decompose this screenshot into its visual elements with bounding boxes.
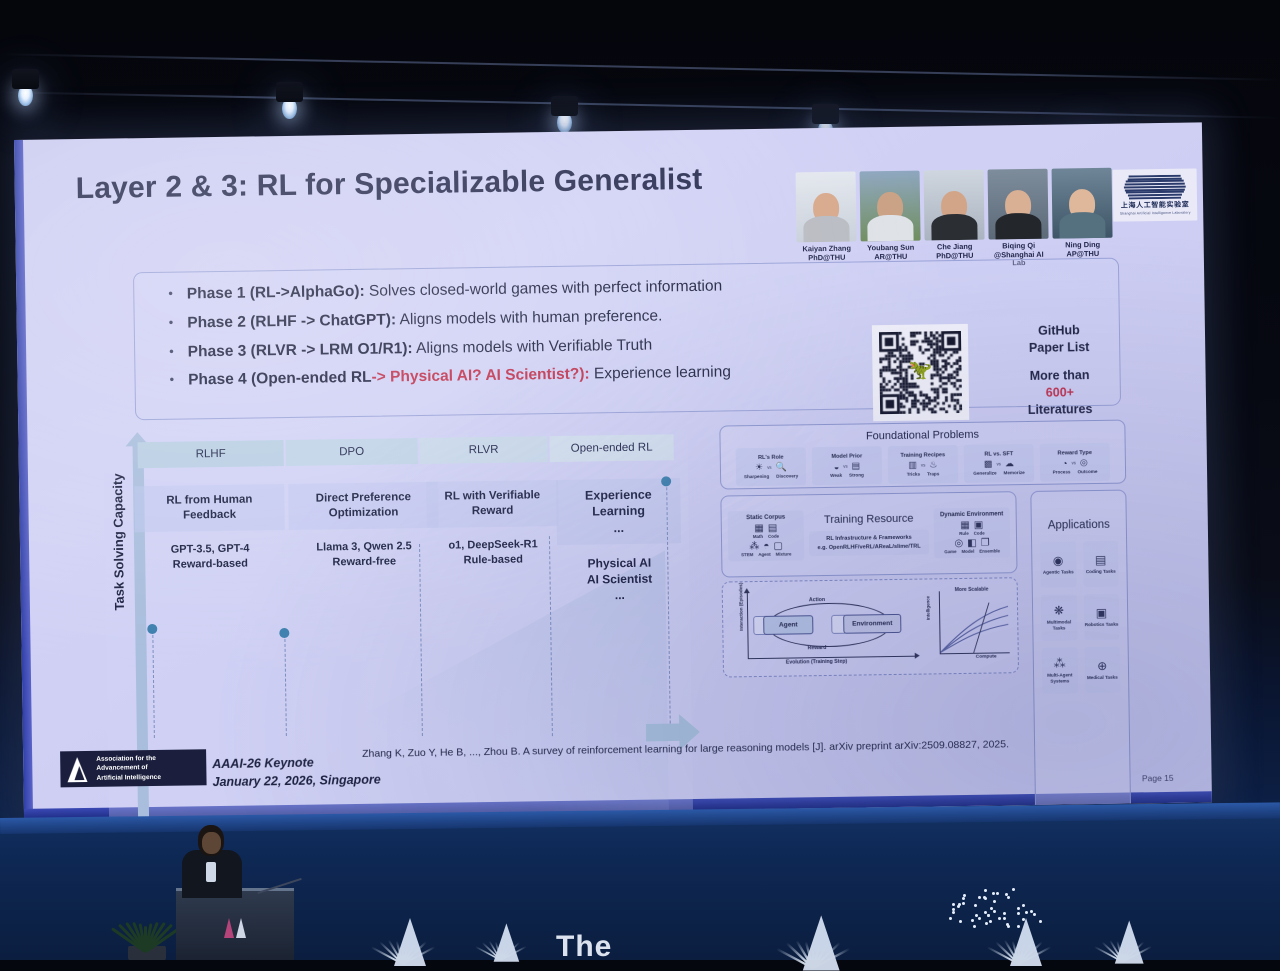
corpus-label: Code [768, 534, 779, 539]
author-affiliation: AR@THU [874, 251, 907, 260]
timeline-column-dpo: Direct Preference Optimization Llama 3, … [288, 482, 439, 571]
stage-area: The [0, 818, 1280, 960]
avatar [1052, 168, 1113, 239]
author-affiliation: PhD@THU [936, 251, 973, 261]
training-resource-center: Training Resource RL Infrastructure & Fr… [809, 513, 930, 557]
avatar [860, 171, 921, 242]
option-left: Sharpening [744, 474, 769, 479]
timeline-header-openended: Open-ended RL [549, 434, 673, 462]
backdrop-dot-spray [948, 868, 1038, 938]
application-label: Multimodal Tasks [1041, 620, 1077, 632]
application-label: Multi-Agent Systems [1042, 673, 1078, 685]
static-corpus-box: Static Corpus ▦▤ MathCode ⁂◓▢ STEMAgentM… [728, 510, 805, 561]
application-item: ◉Agentic Tasks [1040, 541, 1076, 588]
qr-line-3: More than [1004, 366, 1114, 385]
application-item: ❋Multimodal Tasks [1041, 594, 1077, 641]
option-right: Discovery [776, 473, 798, 478]
network-icon: ⁂ [1054, 657, 1066, 671]
layers-icon: ◒ [834, 461, 840, 471]
timeline-header-rlvr: RLVR [419, 436, 547, 464]
foundational-item: Training Recipes▥vs♨TricksTraps [888, 445, 959, 484]
backdrop-banner-text: The [556, 930, 612, 964]
timeline-connector [152, 630, 155, 738]
stem-icon: ⁂ [749, 541, 759, 552]
timeline-column-openended: Experience Learning ... Physical AI AI S… [556, 478, 682, 604]
author-card: Kaiyan ZhangPhD@THU [796, 172, 857, 272]
column-title: Direct Preference Optimization [288, 482, 439, 530]
author-photo-strip: Kaiyan ZhangPhD@THU Youbang SunAR@THU Ch… [796, 168, 1113, 272]
vs-label: vs [843, 464, 847, 469]
corpus-label: STEM [741, 552, 753, 557]
foundational-item: Reward Type◔vs◎ProcessOutcome [1040, 443, 1111, 482]
y-axis-label: Task Solving Capacity [110, 473, 127, 610]
dynamic-environment-box: Dynamic Environment ▦▣ RuleCode ◎◧❐ Game… [934, 507, 1011, 558]
timeline-node-dot [147, 624, 157, 634]
panel-title: Applications [1032, 519, 1126, 532]
application-label: Robotics Tasks [1085, 622, 1119, 628]
game-icon: ◎ [954, 538, 963, 549]
bullet-phase-1: • Phase 1 (RL->AlphaGo): Solves closed-w… [168, 272, 1100, 304]
option-left: Process [1053, 469, 1071, 474]
option-right: Strong [849, 472, 864, 477]
bullet-label: Phase 1 (RL->AlphaGo): [187, 283, 365, 303]
ensemble-icon: ❐ [981, 538, 990, 549]
foundational-item: RL vs. SFT▩vs☁GeneralizeMemorize [964, 444, 1035, 483]
loop-x-label: Evolution (Training Step) [786, 659, 847, 666]
bullet-dot-icon: • [168, 286, 173, 304]
mixture-icon: ▢ [773, 541, 783, 552]
avatar [988, 169, 1049, 240]
dinosaur-icon: 🦖 [909, 361, 933, 380]
qr-code-block[interactable]: 🦖 [872, 324, 969, 421]
column-title: RL from Human Feedback [134, 484, 285, 532]
corpus-label: Agent [758, 552, 771, 557]
timeline-header-rlhf: RLHF [137, 440, 283, 468]
env-label: Game [944, 549, 956, 554]
presentation-slide: Layer 2 & 3: RL for Specializable Genera… [23, 122, 1212, 808]
column-sub: o1, DeepSeek-R1 Rule-based [427, 537, 559, 569]
author-affiliation: PhD@THU [808, 252, 845, 262]
org-line-3: Artificial Intelligence [96, 773, 161, 784]
qr-caption: GitHub Paper List More than 600+ Literat… [1004, 322, 1115, 419]
shanghai-ai-lab-logo: 上海人工智能实验室 Shanghai Artificial Intelligen… [1113, 168, 1198, 221]
code-icon: ▣ [974, 520, 984, 531]
panel-title: Foundational Problems [720, 427, 1124, 445]
item-label: RL's Role [758, 455, 784, 461]
projection-screen: Layer 2 & 3: RL for Specializable Genera… [14, 122, 1212, 820]
item-label: Training Recipes [900, 452, 945, 459]
card-icon: ▥ [908, 460, 917, 471]
applications-grid: ◉Agentic Tasks▤Coding Tasks❋Multimodal T… [1032, 541, 1128, 694]
option-left: Weak [830, 473, 842, 478]
trap-icon: ♨ [929, 459, 937, 470]
column-sub: Physical AI AI Scientist ... [557, 554, 682, 604]
scaling-chart: Intelligence Compute More Scalable [929, 584, 1014, 669]
corpus-label: Math [753, 534, 763, 539]
timeline-header-dpo: DPO [285, 438, 417, 466]
scaling-curves [929, 584, 1014, 669]
cloud-icon: ☁ [1005, 458, 1014, 469]
application-item: ⁂Multi-Agent Systems [1042, 647, 1078, 694]
foundational-items-row: RL's Role☀vs🔍SharpeningDiscoveryModel Pr… [721, 443, 1126, 487]
aaai-logo: Association for the Advancement of Artif… [60, 749, 207, 787]
lightbulb-icon: ☀ [755, 462, 763, 473]
aaai-mark-icon [65, 755, 91, 783]
option-right: Traps [927, 471, 939, 476]
rule-icon: ▦ [960, 520, 970, 531]
backdrop-fountain-graphic [372, 914, 432, 966]
backdrop-fountain-graphic [778, 902, 847, 971]
stage-spotlight [18, 85, 33, 106]
application-item: ▤Coding Tasks [1083, 541, 1119, 588]
model-icon: ◧ [967, 538, 977, 549]
option-left: Generalize [973, 470, 996, 475]
timeline-node-dot [279, 628, 289, 638]
lab-name-en: Shanghai Artificial Intelligence Laborat… [1120, 211, 1191, 216]
robot-icon: ▣ [1096, 606, 1108, 620]
book-icon: ▤ [852, 460, 861, 471]
item-label: Reward Type [1058, 450, 1092, 457]
timeline-connector [284, 634, 287, 736]
vs-label: vs [996, 461, 1000, 466]
corpus-label: Mixture [776, 552, 792, 557]
podium-logo-icon [217, 917, 253, 939]
loop-y-label: Interaction (Episodes) [738, 583, 744, 631]
author-card: Ning DingAP@THU [1052, 168, 1113, 268]
backdrop-fountain-graphic [1095, 922, 1149, 964]
reward-label: Reward [808, 645, 827, 651]
bullet-dot-icon: • [169, 314, 174, 332]
avatar [796, 172, 857, 243]
box-title: Dynamic Environment [936, 511, 1008, 518]
author-card: Che JiangPhD@THU [924, 170, 985, 270]
timeline-node-dot [661, 476, 671, 486]
env-label: Code [974, 531, 985, 536]
author-card: Biqing Qi@Shanghai AI Lab [988, 169, 1049, 269]
stage-spotlight [282, 98, 297, 119]
author-card: Youbang SunAR@THU [860, 171, 921, 271]
action-label: Action [809, 597, 825, 603]
timeline-column-rlvr: RL with Verifiable Reward o1, DeepSeek-R… [426, 480, 559, 569]
foundational-item: RL's Role☀vs🔍SharpeningDiscovery [736, 447, 807, 486]
lab-name-cn: 上海人工智能实验室 [1121, 200, 1190, 211]
option-left: Tricks [907, 472, 920, 477]
bullet-text: Aligns models with Verifiable Truth [413, 336, 653, 357]
item-label: Model Prior [831, 453, 862, 459]
foundational-problems-panel: Foundational Problems RL's Role☀vs🔍Sharp… [719, 420, 1126, 490]
stage-spotlight [557, 112, 572, 133]
bullet-text: Aligns models with human preference. [396, 307, 662, 328]
literature-count: 600+ [1005, 383, 1115, 402]
applications-panel: Applications ◉Agentic Tasks▤Coding Tasks… [1030, 490, 1132, 820]
application-item: ▣Robotics Tasks [1083, 594, 1119, 641]
agent-loop-diagram: Interaction (Episodes) Evolution (Traini… [733, 586, 920, 673]
author-affiliation: AP@THU [1066, 249, 1099, 258]
page-number: Page 15 [1142, 773, 1174, 783]
vs-label: vs [767, 465, 771, 470]
keynote-date: January 22, 2026, Singapore [212, 771, 380, 792]
bullet-highlight: -> Physical AI? AI Scientist?): [371, 366, 589, 386]
bullet-label: Phase 4 (Open-ended RL [188, 369, 372, 389]
clock-icon: ◔ [1062, 458, 1068, 468]
medical-icon: ⊕ [1097, 659, 1107, 673]
column-title: RL with Verifiable Reward [426, 480, 559, 528]
podium [176, 888, 294, 960]
logo-stripes-icon [1124, 175, 1186, 200]
item-label: RL vs. SFT [984, 451, 1013, 457]
code-icon: ▤ [1095, 553, 1107, 567]
env-label: Model [962, 549, 975, 554]
bullet-text: Solves closed-world games with perfect i… [365, 278, 723, 300]
agent-node: Agent [763, 615, 813, 635]
stage-plant [108, 896, 186, 960]
org-line-1: Association for the [96, 754, 161, 765]
bullet-label: Phase 3 (RLVR -> LRM O1/R1): [188, 340, 413, 360]
keynote-info: AAAI-26 Keynote January 22, 2026, Singap… [212, 753, 381, 792]
bullet-dot-icon: • [169, 372, 174, 390]
bullet-dot-icon: • [169, 343, 174, 361]
agent-environment-panel: Interaction (Episodes) Evolution (Traini… [722, 577, 1019, 677]
environment-node: Environment [843, 614, 901, 634]
training-resource-panel: Static Corpus ▦▤ MathCode ⁂◓▢ STEMAgentM… [720, 491, 1017, 577]
qr-line-2: Paper List [1004, 339, 1114, 358]
application-label: Medical Tasks [1087, 675, 1118, 681]
vs-label: vs [1071, 460, 1075, 465]
application-label: Agentic Tasks [1043, 569, 1074, 575]
qr-code[interactable]: 🦖 [872, 324, 969, 421]
bullet-text: Experience learning [589, 364, 731, 383]
foundational-item: Model Prior◒vs▤WeakStrong [812, 446, 883, 485]
panel-title: Training Resource [809, 513, 929, 527]
vs-label: vs [921, 463, 925, 468]
target-icon: ◎ [1080, 457, 1088, 468]
lighting-truss-upper [0, 53, 1280, 81]
option-right: Memorize [1004, 470, 1025, 475]
infra-examples: e.g. OpenRLHF/veRL/AReaL/slime/TRL [812, 542, 926, 552]
column-title: Experience Learning ... [556, 478, 681, 545]
bullet-label: Phase 2 (RLHF -> ChatGPT): [187, 311, 396, 331]
timeline-column-rlhf: RL from Human Feedback GPT-3.5, GPT-4 Re… [134, 484, 285, 573]
multimodal-icon: ❋ [1054, 604, 1064, 618]
agent-icon: ◓ [763, 541, 769, 552]
backdrop-fountain-graphic [476, 929, 524, 962]
phases-bullet-card: • Phase 1 (RL->AlphaGo): Solves closed-w… [133, 258, 1121, 421]
code-icon: ▤ [768, 523, 778, 534]
loop-y-axis [747, 592, 749, 658]
application-label: Coding Tasks [1086, 569, 1116, 575]
avatar [924, 170, 985, 241]
box-title: Static Corpus [730, 514, 802, 521]
math-icon: ▦ [754, 523, 764, 534]
option-right: Outcome [1077, 469, 1097, 474]
column-sub: GPT-3.5, GPT-4 Reward-based [135, 541, 285, 573]
application-item: ⊕Medical Tasks [1084, 647, 1120, 694]
page-title: Layer 2 & 3: RL for Specializable Genera… [75, 163, 702, 206]
magnifier-icon: 🔍 [775, 462, 786, 473]
lighting-truss-lower [0, 91, 1280, 119]
grid-icon: ▩ [984, 459, 993, 470]
qr-line-4: Literatures [1005, 400, 1115, 419]
qr-line-1: GitHub [1004, 322, 1114, 341]
agent-icon: ◉ [1053, 554, 1064, 568]
env-label: Ensemble [979, 548, 1000, 553]
column-sub: Llama 3, Qwen 2.5 Reward-free [289, 539, 439, 571]
env-label: Rule [959, 531, 969, 536]
